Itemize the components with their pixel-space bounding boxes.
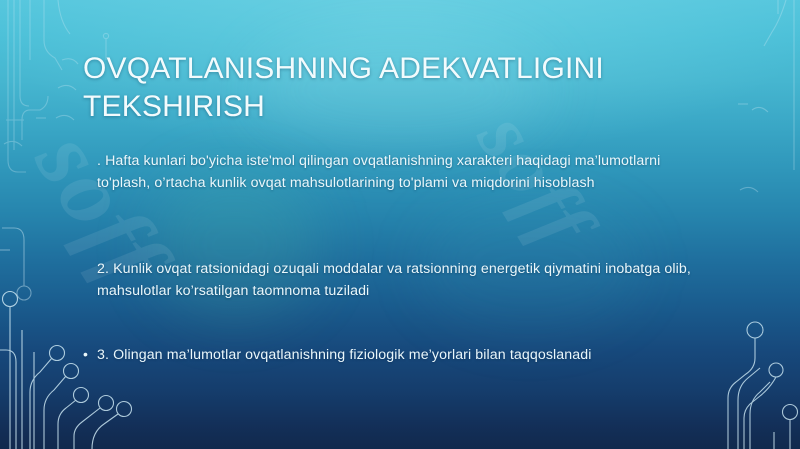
body-paragraph-1: . Hafta kunlari bo'yicha iste'mol qiling… bbox=[83, 150, 699, 194]
slide-title: OVQATLANISHNING ADEKVATLIGINI TEKSHIRISH bbox=[83, 50, 703, 127]
paragraph-row: • 3. Olingan ma’lumotlar ovqatlanishning… bbox=[83, 344, 743, 366]
slide-content: OVQATLANISHNING ADEKVATLIGINI TEKSHIRISH… bbox=[0, 0, 800, 449]
bullet-marker: • bbox=[83, 344, 97, 366]
paragraph-row: 2. Kunlik ovqat ratsionidagi ozuqali mod… bbox=[83, 258, 731, 302]
paragraph-row: . Hafta kunlari bo'yicha iste'mol qiling… bbox=[83, 150, 699, 194]
body-paragraph-2: 2. Kunlik ovqat ratsionidagi ozuqali mod… bbox=[83, 258, 731, 302]
presentation-slide: soff soff OVQATLANISHNING ADEKVATLIGINI … bbox=[0, 0, 800, 449]
paragraph-text: 2. Kunlik ovqat ratsionidagi ozuqali mod… bbox=[97, 258, 731, 302]
paragraph-text: 3. Olingan ma’lumotlar ovqatlanishning f… bbox=[97, 344, 743, 366]
body-paragraph-3: • 3. Olingan ma’lumotlar ovqatlanishning… bbox=[83, 344, 743, 366]
paragraph-text: . Hafta kunlari bo'yicha iste'mol qiling… bbox=[97, 150, 699, 194]
